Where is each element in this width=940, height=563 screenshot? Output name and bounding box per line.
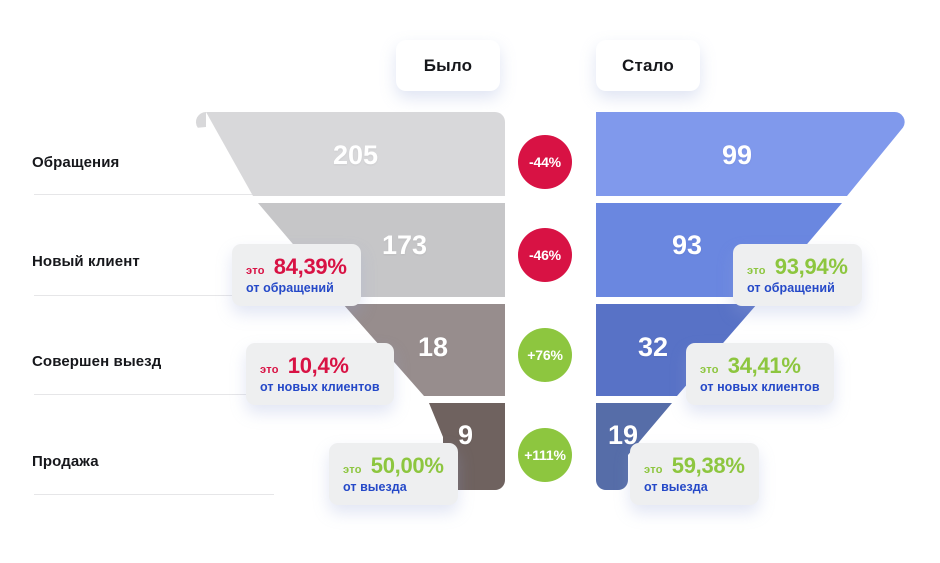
badge-subtitle: от новых клиентов bbox=[260, 380, 380, 394]
conversion-badge-after-2: это 93,94% от обращений bbox=[733, 244, 862, 306]
row-label-obrascheniya: Обращения bbox=[32, 154, 119, 171]
row-divider-1 bbox=[34, 194, 274, 195]
delta-badge-4-label: +111% bbox=[524, 447, 565, 463]
funnel-before-segment-1-corner bbox=[196, 112, 206, 128]
delta-badge-2-label: -46% bbox=[529, 247, 561, 263]
delta-badge-3-label: +76% bbox=[527, 347, 562, 363]
value-after-3: 32 bbox=[638, 332, 668, 363]
row-label-prodazha: Продажа bbox=[32, 453, 99, 470]
value-before-4: 9 bbox=[458, 420, 473, 451]
row-label-sovershen-vyezd: Совершен выезд bbox=[32, 353, 161, 370]
badge-keyword: это bbox=[700, 364, 719, 376]
column-header-after: Стало bbox=[596, 40, 700, 91]
badge-subtitle: от новых клиентов bbox=[700, 380, 820, 394]
value-after-1: 99 bbox=[722, 140, 752, 171]
value-before-2: 173 bbox=[382, 230, 427, 261]
column-header-before-label: Было bbox=[424, 56, 473, 76]
row-divider-3 bbox=[34, 394, 274, 395]
conversion-badge-after-4: это 59,38% от выезда bbox=[630, 443, 759, 505]
badge-keyword: это bbox=[343, 464, 362, 476]
funnel-comparison-chart: Было Стало Обращения Новый клиент Соверш… bbox=[0, 0, 940, 563]
value-before-1: 205 bbox=[333, 140, 378, 171]
conversion-badge-before-4: это 50,00% от выезда bbox=[329, 443, 458, 505]
badge-percent: 59,38% bbox=[672, 453, 745, 479]
value-before-3: 18 bbox=[418, 332, 448, 363]
badge-keyword: это bbox=[644, 464, 663, 476]
delta-badge-1-label: -44% bbox=[529, 154, 561, 170]
badge-percent: 50,00% bbox=[371, 453, 444, 479]
badge-subtitle: от выезда bbox=[343, 480, 444, 494]
badge-keyword: это bbox=[260, 364, 279, 376]
value-after-2: 93 bbox=[672, 230, 702, 261]
conversion-badge-after-3: это 34,41% от новых клиентов bbox=[686, 343, 834, 405]
row-divider-4 bbox=[34, 494, 274, 495]
badge-subtitle: от обращений bbox=[246, 281, 347, 295]
badge-percent: 10,4% bbox=[288, 353, 349, 379]
delta-badge-4: +111% bbox=[518, 428, 572, 482]
delta-badge-1: -44% bbox=[518, 135, 572, 189]
delta-badge-3: +76% bbox=[518, 328, 572, 382]
conversion-badge-before-3: это 10,4% от новых клиентов bbox=[246, 343, 394, 405]
badge-percent: 34,41% bbox=[728, 353, 801, 379]
row-label-novyy-klient: Новый клиент bbox=[32, 253, 140, 270]
column-header-after-label: Стало bbox=[622, 56, 674, 76]
column-header-before: Было bbox=[396, 40, 500, 91]
badge-subtitle: от обращений bbox=[747, 281, 848, 295]
badge-keyword: это bbox=[747, 265, 766, 277]
badge-keyword: это bbox=[246, 265, 265, 277]
badge-percent: 84,39% bbox=[274, 254, 347, 280]
badge-percent: 93,94% bbox=[775, 254, 848, 280]
badge-subtitle: от выезда bbox=[644, 480, 745, 494]
delta-badge-2: -46% bbox=[518, 228, 572, 282]
conversion-badge-before-2: это 84,39% от обращений bbox=[232, 244, 361, 306]
